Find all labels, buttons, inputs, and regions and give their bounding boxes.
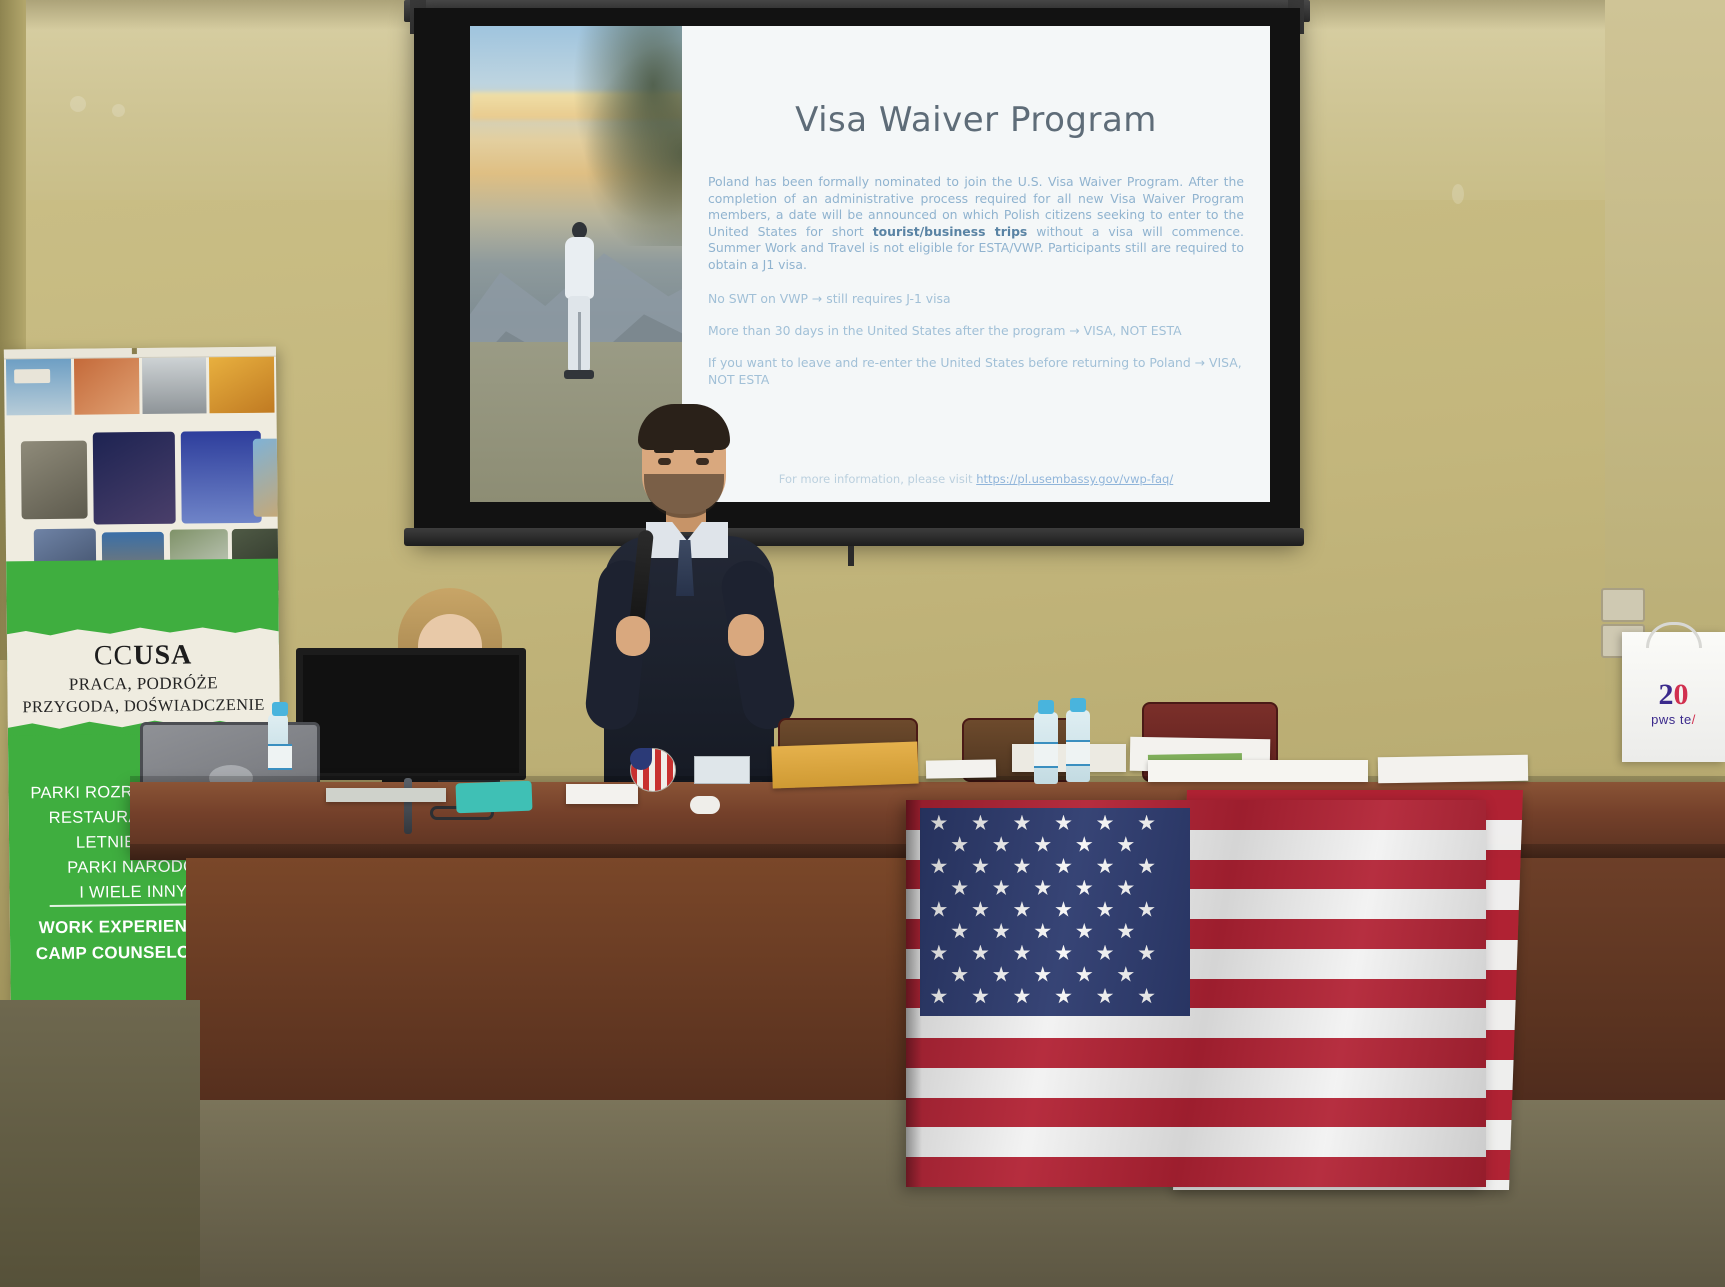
flag-star: [930, 815, 947, 832]
flag-star: [1117, 966, 1134, 983]
banner-photo-mount-rushmore: [141, 357, 206, 414]
desk-papers[interactable]: [566, 784, 638, 804]
presenter-eye-left: [658, 458, 671, 465]
bag-logo-label: pws te: [1651, 712, 1692, 727]
flag-star: [993, 923, 1010, 940]
banner-photo-activity: [209, 357, 274, 414]
flag-star: [1138, 945, 1155, 962]
flag-star: [993, 836, 1010, 853]
flag-star: [1076, 880, 1093, 897]
flag-stripe: [906, 1157, 1486, 1187]
presenter-hand-right: [728, 614, 764, 656]
bottle-cap: [272, 702, 288, 716]
flag-star: [1034, 880, 1051, 897]
flag-star: [1097, 815, 1114, 832]
banner-brand: CCUSA: [7, 639, 279, 674]
flag-star: [1097, 945, 1114, 962]
globe-photo-cell: [21, 441, 88, 520]
globe-photo-statue-of-liberty: [181, 431, 262, 524]
screen-bottom-bar: [404, 528, 1304, 546]
desktop-monitor[interactable]: [296, 648, 526, 780]
flag-star: [993, 966, 1010, 983]
slide-paragraph-bold: tourist/business trips: [873, 224, 1028, 239]
slide-bullet-1: No SWT on VWP → still requires J-1 visa: [708, 290, 1244, 307]
presenter-eyebrow-right: [694, 448, 714, 453]
flag-canton: [920, 808, 1190, 1016]
flag-star: [1138, 988, 1155, 1005]
yellow-envelope[interactable]: [771, 741, 918, 788]
flag-star: [1117, 836, 1134, 853]
hiker-shoes: [564, 370, 594, 379]
desk-papers[interactable]: [926, 759, 996, 778]
flag-star: [1034, 923, 1051, 940]
flag-star: [951, 923, 968, 940]
photo-pine-tree: [562, 26, 682, 246]
slide-paragraph: Poland has been formally nominated to jo…: [708, 174, 1244, 274]
flag-star: [1097, 901, 1114, 918]
flag-stripe: [906, 1068, 1486, 1098]
screen-pull-cord[interactable]: [848, 546, 854, 566]
presenter-hand-left: [616, 616, 650, 656]
flag-star: [930, 901, 947, 918]
bottle-label: [268, 744, 292, 770]
flag-star: [1055, 988, 1072, 1005]
bottle-label: [1066, 740, 1090, 766]
flag-star: [1117, 880, 1134, 897]
bottle-label: [1034, 742, 1058, 768]
flag-star: [930, 945, 947, 962]
flag-stripe: [906, 1127, 1486, 1157]
flag-left-shadow: [906, 800, 922, 1187]
flag-star: [951, 880, 968, 897]
stress-ball-blue-section: [630, 748, 652, 770]
flag-star: [1055, 901, 1072, 918]
banner-brand-cc: CC: [94, 640, 134, 671]
floor-left: [0, 1000, 200, 1287]
bag-digit-0: 0: [1674, 678, 1689, 711]
desk-papers[interactable]: [326, 788, 446, 802]
wall-mark: [70, 96, 86, 112]
male-presenter: [590, 410, 790, 790]
banner-photo-theme-park: [74, 358, 139, 415]
flag-star: [1117, 923, 1134, 940]
flag-star: [972, 858, 989, 875]
slide-title: Visa Waiver Program: [708, 100, 1244, 140]
flag-star: [1013, 901, 1030, 918]
water-bottle[interactable]: [1034, 712, 1058, 784]
flag-stripe: [906, 1098, 1486, 1128]
flag-star: [930, 858, 947, 875]
bag-anniversary-number: 20: [1622, 680, 1725, 710]
flag-star: [1034, 836, 1051, 853]
hiker-leg-split: [578, 312, 581, 370]
presenter-beard: [644, 474, 724, 518]
flag-star: [972, 901, 989, 918]
flag-star: [1013, 815, 1030, 832]
flag-star: [930, 988, 947, 1005]
pen[interactable]: [404, 778, 412, 834]
slide-footer-link[interactable]: https://pl.usembassy.gov/vwp-faq/: [976, 472, 1173, 486]
banner-tagline-1: PRACA, PODRÓŻE: [7, 673, 279, 696]
flag-star: [1076, 923, 1093, 940]
flag-star: [1138, 901, 1155, 918]
flag-stripe: [906, 1038, 1486, 1068]
banner-tagline-2: PRZYGODA, DOŚWIADCZENIE: [8, 695, 280, 718]
flag-star: [1138, 858, 1155, 875]
flag-star: [1013, 945, 1030, 962]
flag-star: [1013, 858, 1030, 875]
hiker-torso: [565, 237, 594, 299]
presenter-eye-right: [696, 458, 709, 465]
flag-star: [1097, 858, 1114, 875]
bottle-cap: [1070, 698, 1086, 712]
flag-star: [1076, 966, 1093, 983]
wall-socket[interactable]: [1601, 588, 1645, 622]
flag-star: [972, 815, 989, 832]
flag-star: [1055, 945, 1072, 962]
water-bottle[interactable]: [1066, 710, 1090, 782]
flag-star: [951, 836, 968, 853]
flag-star: [993, 880, 1010, 897]
bottle-cap: [1038, 700, 1054, 714]
flag-star: [1034, 966, 1051, 983]
banner-photo-las-vegas: [6, 359, 71, 416]
flag-star: [972, 945, 989, 962]
small-box[interactable]: [694, 756, 750, 784]
bag-digit-2: 2: [1659, 678, 1674, 711]
flag-star: [1055, 858, 1072, 875]
desk-papers[interactable]: [1378, 755, 1528, 784]
banner-photo-strip: [4, 357, 277, 416]
flag-star: [1138, 815, 1155, 832]
flag-star: [972, 988, 989, 1005]
flag-star: [1076, 836, 1093, 853]
banner-brand-usa: USA: [133, 639, 192, 671]
water-bottle[interactable]: [268, 714, 288, 764]
bag-logo-slash: /: [1692, 712, 1696, 727]
photo-hiker-figure: [558, 222, 600, 398]
presentation-scene: Visa Waiver Program Poland has been form…: [0, 0, 1725, 1287]
desk-papers[interactable]: [1148, 760, 1368, 782]
presenter-eyebrow-left: [654, 448, 674, 453]
presenter-hair: [638, 404, 730, 450]
slide-bullet-2: More than 30 days in the United States a…: [708, 322, 1244, 339]
teal-pouch[interactable]: [455, 781, 532, 814]
wall-mark: [1452, 184, 1464, 204]
flag-star: [1055, 815, 1072, 832]
banner-hook: [132, 347, 137, 355]
flag-star: [1097, 988, 1114, 1005]
slide-bullet-3: If you want to leave and re-enter the Un…: [708, 354, 1244, 388]
wall-mark: [112, 104, 125, 117]
pwsz-shopping-bag[interactable]: 20 pws te/: [1622, 632, 1725, 762]
computer-mouse[interactable]: [690, 796, 720, 814]
slide-footer-prefix: For more information, please visit: [779, 472, 976, 486]
flag-star: [1013, 988, 1030, 1005]
united-states-flag: [906, 800, 1486, 1187]
flag-star: [951, 966, 968, 983]
bag-logo-text: pws te/: [1622, 712, 1725, 727]
globe-photo-cell: [93, 432, 176, 525]
